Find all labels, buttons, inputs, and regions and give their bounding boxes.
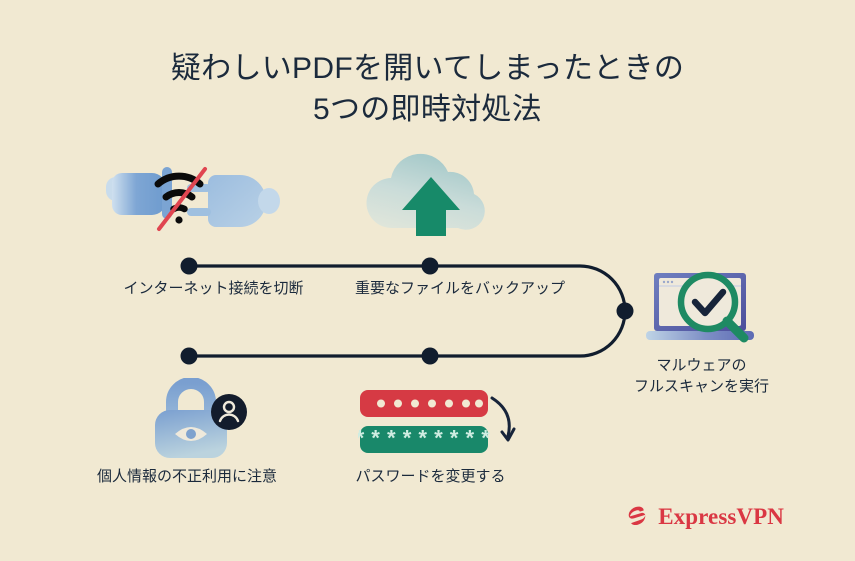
step-label-password: パスワードを変更する xyxy=(333,466,528,487)
infographic-canvas: 疑わしいPDFを開いてしまったときの 5つの即時対処法 xyxy=(0,0,855,561)
plug-disconnected-icon xyxy=(88,155,293,245)
svg-text:*********: ********* xyxy=(358,428,495,453)
page-title: 疑わしいPDFを開いてしまったときの 5つの即時対処法 xyxy=(0,48,855,130)
step-label-disconnect: インターネット接続を切断 xyxy=(96,278,331,299)
step-label-backup: 重要なファイルをバックアップ xyxy=(340,278,580,299)
laptop-scan-icon xyxy=(645,268,763,350)
password-change-icon: ********* xyxy=(358,388,516,456)
expressvpn-mark-icon xyxy=(624,500,649,532)
expressvpn-logo: ExpressVPN xyxy=(624,498,784,534)
step-label-privacy: 個人情報の不正利用に注意 xyxy=(72,466,302,487)
step-label-scan: マルウェアの フルスキャンを実行 xyxy=(620,355,783,397)
cloud-upload-icon xyxy=(360,150,505,245)
logo-text: ExpressVPN xyxy=(658,505,784,528)
padlock-identity-icon xyxy=(147,378,252,460)
